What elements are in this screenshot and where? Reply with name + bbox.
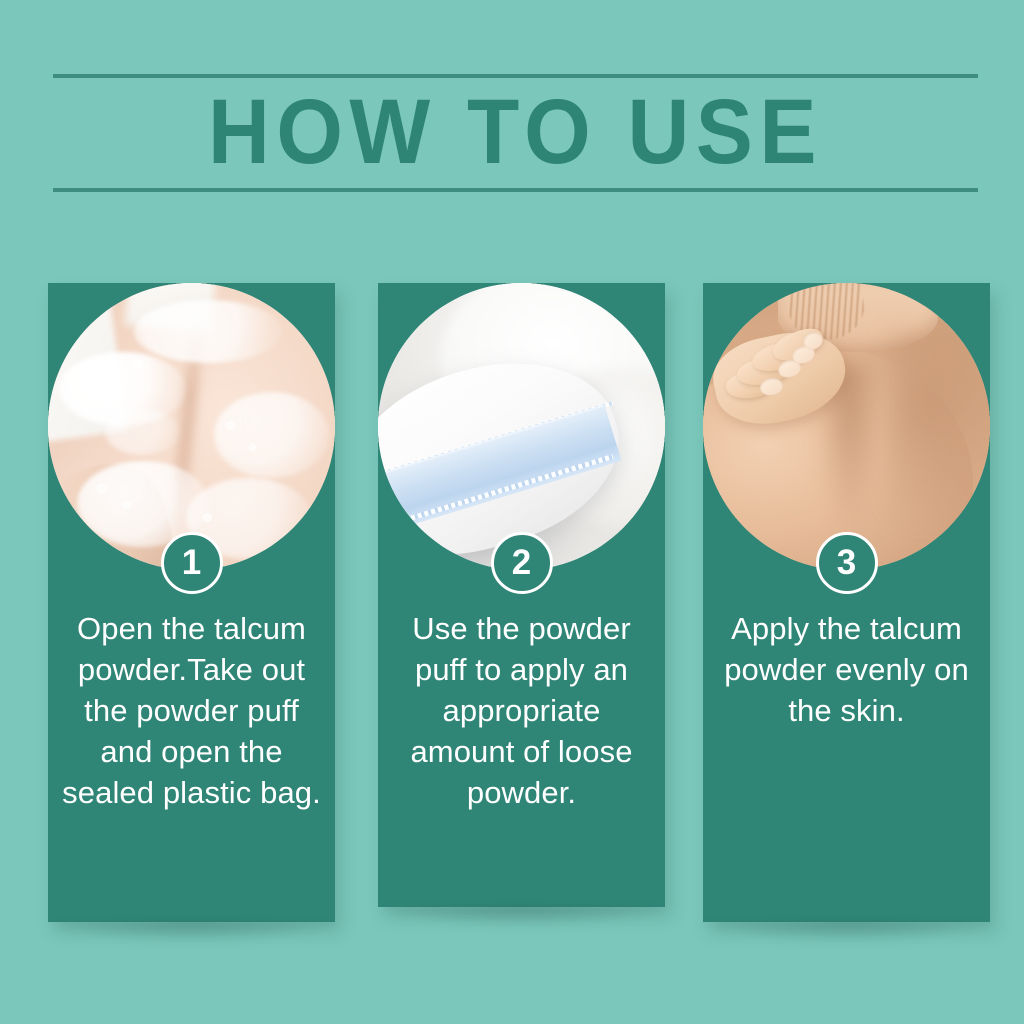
step-card-1[interactable]: 1 Open the talcum powder.Take out the po… <box>48 283 335 922</box>
step-card-2-shadow <box>378 906 665 928</box>
step-3-image <box>703 283 990 570</box>
poster-header: HOW TO USE <box>53 60 978 195</box>
step-card-2[interactable]: 2 Use the powder puff to apply an approp… <box>378 283 665 907</box>
header-bottom-rule <box>53 188 978 192</box>
steps-container: 1 Open the talcum powder.Take out the po… <box>0 283 1024 943</box>
step-2-image <box>378 283 665 570</box>
step-3-caption: Apply the talcum powder evenly on the sk… <box>715 608 978 731</box>
step-1-image <box>48 283 335 570</box>
step-card-3[interactable]: 3 Apply the talcum powder evenly on the … <box>703 283 990 922</box>
step-card-1-shadow <box>48 921 335 943</box>
step-2-caption: Use the powder puff to apply an appropri… <box>390 608 653 813</box>
step-3-number-badge: 3 <box>816 532 878 594</box>
how-to-use-poster: HOW TO USE <box>0 0 1024 1024</box>
step-card-3-shadow <box>703 921 990 943</box>
step-2-number-badge: 2 <box>491 532 553 594</box>
step-1-caption: Open the talcum powder.Take out the powd… <box>60 608 323 813</box>
page-title: HOW TO USE <box>85 76 945 188</box>
step-1-number-badge: 1 <box>161 532 223 594</box>
